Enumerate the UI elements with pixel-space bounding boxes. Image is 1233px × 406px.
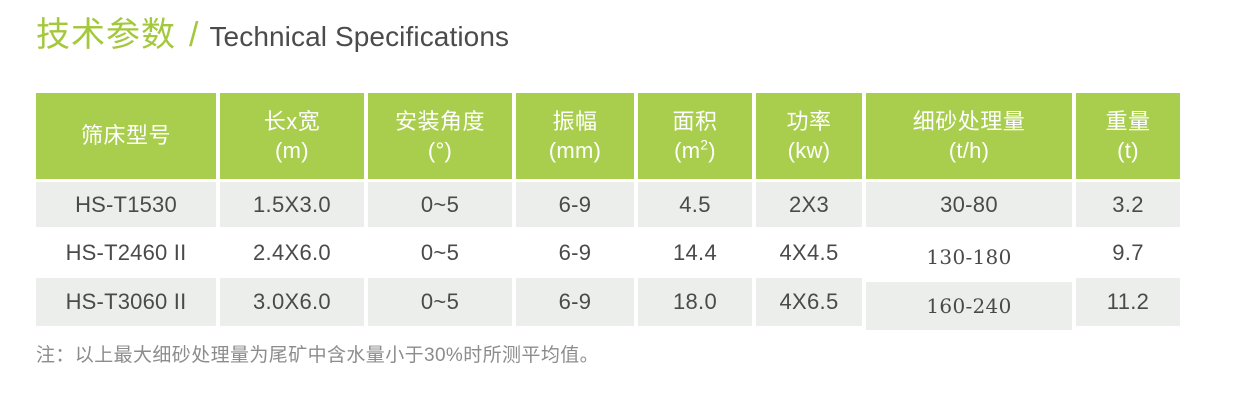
column-header-weight-unit: (t)	[1076, 136, 1180, 165]
cell-area: 18.0	[638, 278, 756, 326]
cell-amplitude: 6-9	[516, 278, 638, 326]
table-footnote: 注：以上最大细砂处理量为尾矿中含水量小于30%时所测平均值。	[36, 340, 599, 367]
column-header-amplitude-label: 振幅	[516, 107, 634, 136]
column-header-size: 长x宽 (m)	[220, 93, 368, 182]
table-header: 筛床型号 长x宽 (m) 安装角度 (°) 振幅 (mm) 面积 (m2) 功率…	[36, 93, 1180, 182]
cell-model: HS-T2460 II	[36, 230, 220, 278]
cell-model: HS-T1530	[36, 182, 220, 230]
page-title-chinese: 技术参数	[36, 18, 176, 52]
table-row: HS-T1530 1.5X3.0 0~5 6-9 4.5 2X3 30-80 3…	[36, 182, 1180, 230]
cell-power: 4X4.5	[756, 230, 866, 278]
area-unit-close: )	[708, 138, 716, 163]
cell-size: 1.5X3.0	[220, 182, 368, 230]
cell-flow: 160-240	[866, 282, 1076, 330]
table-header-row: 筛床型号 长x宽 (m) 安装角度 (°) 振幅 (mm) 面积 (m2) 功率…	[36, 93, 1180, 182]
column-header-weight-label: 重量	[1076, 107, 1180, 136]
column-header-area-label: 面积	[638, 107, 752, 136]
column-header-power-unit: (kw)	[756, 136, 862, 165]
cell-power: 2X3	[756, 182, 866, 230]
cell-area: 14.4	[638, 230, 756, 278]
column-header-power-label: 功率	[756, 107, 862, 136]
column-header-size-unit: (m)	[220, 136, 364, 165]
title-separator: /	[189, 18, 198, 52]
cell-size: 2.4X6.0	[220, 230, 368, 278]
cell-amplitude: 6-9	[516, 182, 638, 230]
cell-area: 4.5	[638, 182, 756, 230]
column-header-model: 筛床型号	[36, 93, 220, 182]
column-header-flow: 细砂处理量 (t/h)	[866, 93, 1076, 182]
column-header-size-label: 长x宽	[220, 107, 364, 136]
table-row: HS-T3060 II 3.0X6.0 0~5 6-9 18.0 4X6.5 1…	[36, 278, 1180, 326]
column-header-model-label: 筛床型号	[36, 121, 216, 150]
column-header-area-unit: (m2)	[638, 136, 752, 165]
column-header-power: 功率 (kw)	[756, 93, 866, 182]
cell-weight: 11.2	[1076, 278, 1180, 326]
cell-size: 3.0X6.0	[220, 278, 368, 326]
cell-weight: 3.2	[1076, 182, 1180, 230]
table-row: HS-T2460 II 2.4X6.0 0~5 6-9 14.4 4X4.5 1…	[36, 230, 1180, 278]
area-unit-open: (m	[674, 138, 700, 163]
cell-flow: 130-180	[866, 234, 1076, 282]
column-header-area: 面积 (m2)	[638, 93, 756, 182]
column-header-flow-label: 细砂处理量	[866, 107, 1072, 136]
column-header-amplitude: 振幅 (mm)	[516, 93, 638, 182]
column-header-flow-unit: (t/h)	[866, 136, 1072, 165]
column-header-angle-label: 安装角度	[368, 107, 512, 136]
page-title-english: Technical Specifications	[209, 23, 509, 51]
specifications-table: 筛床型号 长x宽 (m) 安装角度 (°) 振幅 (mm) 面积 (m2) 功率…	[36, 93, 1180, 326]
cell-weight: 9.7	[1076, 230, 1180, 278]
cell-angle: 0~5	[368, 230, 516, 278]
column-header-angle: 安装角度 (°)	[368, 93, 516, 182]
column-header-weight: 重量 (t)	[1076, 93, 1180, 182]
cell-angle: 0~5	[368, 182, 516, 230]
cell-model: HS-T3060 II	[36, 278, 220, 326]
table-body: HS-T1530 1.5X3.0 0~5 6-9 4.5 2X3 30-80 3…	[36, 182, 1180, 326]
column-header-amplitude-unit: (mm)	[516, 136, 634, 165]
cell-power: 4X6.5	[756, 278, 866, 326]
cell-angle: 0~5	[368, 278, 516, 326]
column-header-angle-unit: (°)	[368, 136, 512, 165]
page-title: 技术参数 / Technical Specifications	[36, 18, 509, 52]
cell-amplitude: 6-9	[516, 230, 638, 278]
cell-flow: 30-80	[866, 182, 1076, 230]
